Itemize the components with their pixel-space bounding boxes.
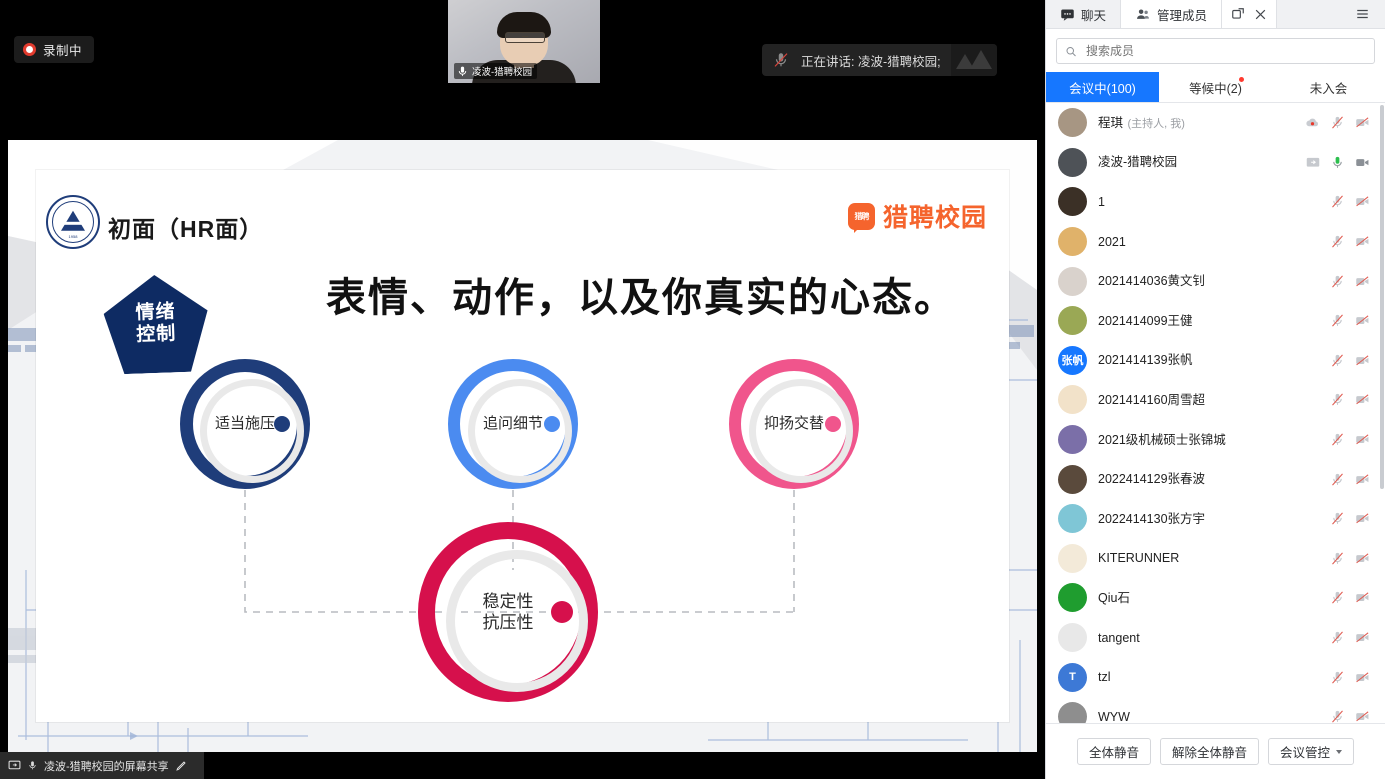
participant-name: 程琪 bbox=[1098, 116, 1123, 130]
diagram-node-center: 稳定性抗压性 bbox=[418, 522, 598, 702]
camera-muted-icon[interactable] bbox=[1354, 392, 1371, 407]
node-label-line1: 稳定性 bbox=[483, 592, 534, 611]
participant-name: 2021414139张帆 bbox=[1098, 353, 1193, 367]
participant-name-block: WYW bbox=[1098, 708, 1319, 723]
diagram-node-2: 追问细节 bbox=[448, 359, 578, 489]
participant-name: 2021414099王健 bbox=[1098, 314, 1193, 328]
members-panel: 聊天 管理成员 bbox=[1045, 0, 1385, 779]
participant-name: 1 bbox=[1098, 195, 1105, 209]
participant-list[interactable]: 程琪 (主持人, 我) 凌波-猎聘校园 bbox=[1046, 103, 1385, 723]
member-search-box[interactable] bbox=[1056, 38, 1375, 64]
close-icon[interactable] bbox=[1254, 8, 1267, 21]
mic-muted-icon[interactable] bbox=[1330, 432, 1345, 447]
mic-muted-icon[interactable] bbox=[1330, 590, 1345, 605]
participant-status-icons bbox=[1330, 432, 1371, 447]
participant-status-icons bbox=[1330, 194, 1371, 209]
tab-chat[interactable]: 聊天 bbox=[1046, 0, 1121, 28]
member-filter-label-2: 未入会 bbox=[1310, 78, 1348, 97]
avatar: T bbox=[1058, 663, 1087, 692]
avatar bbox=[1058, 623, 1087, 652]
member-filter-label-0: 会议中(100) bbox=[1069, 78, 1136, 97]
camera-muted-icon[interactable] bbox=[1354, 590, 1371, 605]
participant-name-block: 2021414036黄文钊 bbox=[1098, 272, 1319, 290]
participant-name: tzl bbox=[1098, 670, 1111, 684]
participant-row[interactable]: 2022414130张方宇 bbox=[1046, 499, 1385, 539]
avatar bbox=[1058, 227, 1087, 256]
mic-muted-icon bbox=[772, 51, 790, 69]
participant-name-block: 2021414099王健 bbox=[1098, 312, 1319, 330]
participant-row[interactable]: 2021414099王健 bbox=[1046, 301, 1385, 341]
avatar: 张帆 bbox=[1058, 346, 1087, 375]
camera-muted-icon[interactable] bbox=[1354, 353, 1371, 368]
participant-name-block: 2021级机械硕士张锦城 bbox=[1098, 431, 1319, 449]
camera-muted-icon[interactable] bbox=[1354, 234, 1371, 249]
mic-muted-icon[interactable] bbox=[1330, 472, 1345, 487]
popout-icon[interactable] bbox=[1231, 7, 1245, 21]
participant-name-block: 2021414139张帆 bbox=[1098, 351, 1319, 369]
participant-status-icons bbox=[1330, 472, 1371, 487]
node-label: 适当施压 bbox=[215, 415, 275, 434]
participant-row[interactable]: 程琪 (主持人, 我) bbox=[1046, 103, 1385, 143]
camera-muted-icon[interactable] bbox=[1354, 313, 1371, 328]
mic-muted-icon[interactable] bbox=[1330, 551, 1345, 566]
participant-status-icons bbox=[1330, 630, 1371, 645]
mic-muted-icon[interactable] bbox=[1330, 670, 1345, 685]
video-tile-name: 凌波-猎聘校园 bbox=[472, 64, 532, 78]
node-label: 稳定性抗压性 bbox=[483, 591, 534, 634]
annotate-pencil-icon[interactable] bbox=[175, 760, 187, 772]
panel-tab-bar: 聊天 管理成员 bbox=[1046, 0, 1385, 29]
video-person-glasses bbox=[505, 32, 545, 43]
panel-menu-button[interactable] bbox=[1340, 0, 1385, 28]
camera-muted-icon[interactable] bbox=[1354, 630, 1371, 645]
footer-button-1[interactable]: 解除全体静音 bbox=[1160, 738, 1259, 765]
mic-active-icon[interactable] bbox=[1330, 155, 1345, 170]
participant-row[interactable]: 1 bbox=[1046, 182, 1385, 222]
avatar bbox=[1058, 148, 1087, 177]
node-dot-icon bbox=[551, 601, 573, 623]
participant-name: WYW bbox=[1098, 710, 1130, 723]
camera-on-icon[interactable] bbox=[1354, 155, 1371, 170]
record-cloud-icon[interactable] bbox=[1304, 115, 1321, 130]
presentation-slide: 1958 初面（HR面） 猎聘 猎聘校园 情绪 控制 表情、动作，以及你真实的心… bbox=[36, 170, 1009, 722]
participant-row[interactable]: WYW bbox=[1046, 697, 1385, 723]
mic-muted-icon[interactable] bbox=[1330, 630, 1345, 645]
participant-role: (主持人, 我) bbox=[1127, 118, 1184, 130]
participant-row[interactable]: T tzl bbox=[1046, 657, 1385, 697]
avatar bbox=[1058, 583, 1087, 612]
video-tile-name-badge: 凌波-猎聘校园 bbox=[454, 63, 537, 79]
participant-row[interactable]: 张帆 2021414139张帆 bbox=[1046, 341, 1385, 381]
participant-name: 2021 bbox=[1098, 235, 1126, 249]
recording-label: 录制中 bbox=[43, 40, 82, 59]
record-dot-icon bbox=[23, 43, 36, 56]
panel-footer-actions: 全体静音 解除全体静音 会议管控 bbox=[1046, 723, 1385, 779]
mic-icon bbox=[27, 759, 38, 772]
participant-status-icons bbox=[1330, 511, 1371, 526]
search-input[interactable] bbox=[1084, 43, 1366, 59]
participant-row[interactable]: 2021级机械硕士张锦城 bbox=[1046, 420, 1385, 460]
avatar bbox=[1058, 187, 1087, 216]
camera-muted-icon[interactable] bbox=[1354, 670, 1371, 685]
node-dot-icon bbox=[274, 416, 290, 432]
mic-muted-icon[interactable] bbox=[1330, 313, 1345, 328]
mic-muted-icon[interactable] bbox=[1330, 511, 1345, 526]
node-label: 追问细节 bbox=[483, 415, 543, 434]
participant-status-icons bbox=[1330, 590, 1371, 605]
participant-status-icons bbox=[1330, 551, 1371, 566]
participant-name: 2021414160周雪超 bbox=[1098, 393, 1205, 407]
participant-name: KITERUNNER bbox=[1098, 551, 1179, 565]
hamburger-icon bbox=[1354, 7, 1371, 21]
camera-muted-icon[interactable] bbox=[1354, 432, 1371, 447]
avatar bbox=[1058, 504, 1087, 533]
avatar bbox=[1058, 385, 1087, 414]
screen-share-bar[interactable]: 凌波-猎聘校园的屏幕共享 bbox=[0, 752, 204, 779]
member-filter-2[interactable]: 未入会 bbox=[1272, 72, 1385, 102]
participant-row[interactable]: 2022414129张春波 bbox=[1046, 459, 1385, 499]
mic-muted-icon[interactable] bbox=[1330, 353, 1345, 368]
participant-name: 凌波-猎聘校园 bbox=[1098, 155, 1177, 169]
camera-muted-icon[interactable] bbox=[1354, 115, 1371, 130]
chat-icon bbox=[1060, 7, 1075, 22]
participant-row[interactable]: 2021414036黄文钊 bbox=[1046, 261, 1385, 301]
meeting-stage: 录制中 凌波-猎聘校园 bbox=[0, 0, 1045, 779]
participant-row[interactable]: Qiu石 bbox=[1046, 578, 1385, 618]
participant-name-block: 2021414160周雪超 bbox=[1098, 391, 1319, 409]
mic-muted-icon[interactable] bbox=[1330, 194, 1345, 209]
participant-status-icons bbox=[1330, 234, 1371, 249]
participant-scrollbar[interactable] bbox=[1380, 105, 1384, 489]
camera-muted-icon[interactable] bbox=[1354, 274, 1371, 289]
avatar bbox=[1058, 306, 1087, 335]
active-speaker-banner: 正在讲话: 凌波-猎聘校园; bbox=[762, 44, 997, 76]
participant-status-icons bbox=[1330, 392, 1371, 407]
camera-muted-icon[interactable] bbox=[1354, 709, 1371, 723]
new-waiting-badge bbox=[1239, 77, 1244, 82]
avatar bbox=[1058, 702, 1087, 723]
participant-status-icons bbox=[1330, 709, 1371, 723]
tab-manage-members[interactable]: 管理成员 bbox=[1121, 0, 1222, 28]
mic-muted-icon[interactable] bbox=[1330, 709, 1345, 723]
diagram-node-1: 适当施压 bbox=[180, 359, 310, 489]
screen-share-icon[interactable] bbox=[1305, 155, 1321, 170]
footer-button-label-1: 解除全体静音 bbox=[1172, 742, 1247, 761]
camera-muted-icon[interactable] bbox=[1354, 472, 1371, 487]
participant-name-block: 程琪 (主持人, 我) bbox=[1098, 114, 1293, 132]
participant-status-icons bbox=[1304, 115, 1371, 130]
panel-window-controls bbox=[1222, 0, 1277, 28]
member-filter-label-1: 等候中(2) bbox=[1189, 78, 1242, 97]
mic-muted-icon[interactable] bbox=[1330, 392, 1345, 407]
participant-name: 2022414129张春波 bbox=[1098, 472, 1205, 486]
participant-status-icons bbox=[1330, 670, 1371, 685]
camera-muted-icon[interactable] bbox=[1354, 194, 1371, 209]
footer-button-2[interactable]: 会议管控 bbox=[1268, 738, 1354, 765]
participant-name-block: KITERUNNER bbox=[1098, 549, 1319, 567]
node-label-line2: 抗压性 bbox=[483, 613, 534, 632]
node-label: 抑扬交替 bbox=[764, 415, 824, 434]
footer-button-label-0: 全体静音 bbox=[1089, 742, 1139, 761]
avatar bbox=[1058, 267, 1087, 296]
search-icon bbox=[1065, 45, 1077, 58]
member-search bbox=[1046, 29, 1385, 72]
participant-name-block: tzl bbox=[1098, 668, 1319, 686]
participant-status-icons bbox=[1330, 274, 1371, 289]
meeting-logo-icon bbox=[951, 44, 997, 76]
video-tile-speaker[interactable]: 凌波-猎聘校园 bbox=[448, 0, 600, 83]
participant-name-block: tangent bbox=[1098, 629, 1319, 647]
participant-name: tangent bbox=[1098, 631, 1140, 645]
participant-name-block: 2022414130张方宇 bbox=[1098, 510, 1319, 528]
shared-screen-area: 1958 初面（HR面） 猎聘 猎聘校园 情绪 控制 表情、动作，以及你真实的心… bbox=[8, 140, 1037, 752]
avatar bbox=[1058, 425, 1087, 454]
avatar bbox=[1058, 108, 1087, 137]
participant-row[interactable]: 2021 bbox=[1046, 222, 1385, 262]
participant-row[interactable]: 2021414160周雪超 bbox=[1046, 380, 1385, 420]
participant-name-block: 2021 bbox=[1098, 233, 1319, 251]
video-top-bar: 录制中 凌波-猎聘校园 bbox=[0, 0, 1045, 83]
tab-chat-label: 聊天 bbox=[1081, 5, 1106, 24]
avatar bbox=[1058, 465, 1087, 494]
participant-name-block: 1 bbox=[1098, 193, 1319, 211]
participant-row[interactable]: KITERUNNER bbox=[1046, 539, 1385, 579]
member-filter-0[interactable]: 会议中(100) bbox=[1046, 72, 1159, 102]
mic-muted-icon[interactable] bbox=[1330, 115, 1345, 130]
mic-muted-icon[interactable] bbox=[1330, 274, 1345, 289]
participant-name: 2021级机械硕士张锦城 bbox=[1098, 433, 1226, 447]
camera-muted-icon[interactable] bbox=[1354, 511, 1371, 526]
screen-share-label: 凌波-猎聘校园的屏幕共享 bbox=[44, 758, 169, 774]
member-filter-1[interactable]: 等候中(2) bbox=[1159, 72, 1272, 102]
participant-name: 2021414036黄文钊 bbox=[1098, 274, 1205, 288]
participant-name: Qiu石 bbox=[1098, 591, 1130, 605]
participant-name: 2022414130张方宇 bbox=[1098, 512, 1205, 526]
node-dot-icon bbox=[544, 416, 560, 432]
participant-row[interactable]: 凌波-猎聘校园 bbox=[1046, 143, 1385, 183]
participant-status-icons bbox=[1330, 313, 1371, 328]
members-icon bbox=[1135, 7, 1151, 22]
participant-status-icons bbox=[1330, 353, 1371, 368]
avatar bbox=[1058, 544, 1087, 573]
screen-share-icon bbox=[8, 759, 21, 772]
node-dot-icon bbox=[825, 416, 841, 432]
participant-status-icons bbox=[1305, 155, 1371, 170]
mic-icon bbox=[456, 65, 469, 78]
member-filter-tabs: 会议中(100)等候中(2)未入会 bbox=[1046, 72, 1385, 103]
camera-muted-icon[interactable] bbox=[1354, 551, 1371, 566]
tab-manage-members-label: 管理成员 bbox=[1157, 5, 1207, 24]
participant-row[interactable]: tangent bbox=[1046, 618, 1385, 658]
chevron-down-icon bbox=[1336, 750, 1342, 754]
diagram-node-3: 抑扬交替 bbox=[729, 359, 859, 489]
active-speaker-text: 正在讲话: 凌波-猎聘校园; bbox=[790, 51, 951, 70]
mic-muted-icon[interactable] bbox=[1330, 234, 1345, 249]
participant-name-block: Qiu石 bbox=[1098, 589, 1319, 607]
footer-button-label-2: 会议管控 bbox=[1280, 742, 1330, 761]
participant-name-block: 2022414129张春波 bbox=[1098, 470, 1319, 488]
participant-name-block: 凌波-猎聘校园 bbox=[1098, 153, 1294, 171]
recording-indicator: 录制中 bbox=[14, 36, 94, 63]
footer-button-0[interactable]: 全体静音 bbox=[1077, 738, 1151, 765]
app-root: 录制中 凌波-猎聘校园 bbox=[0, 0, 1385, 779]
